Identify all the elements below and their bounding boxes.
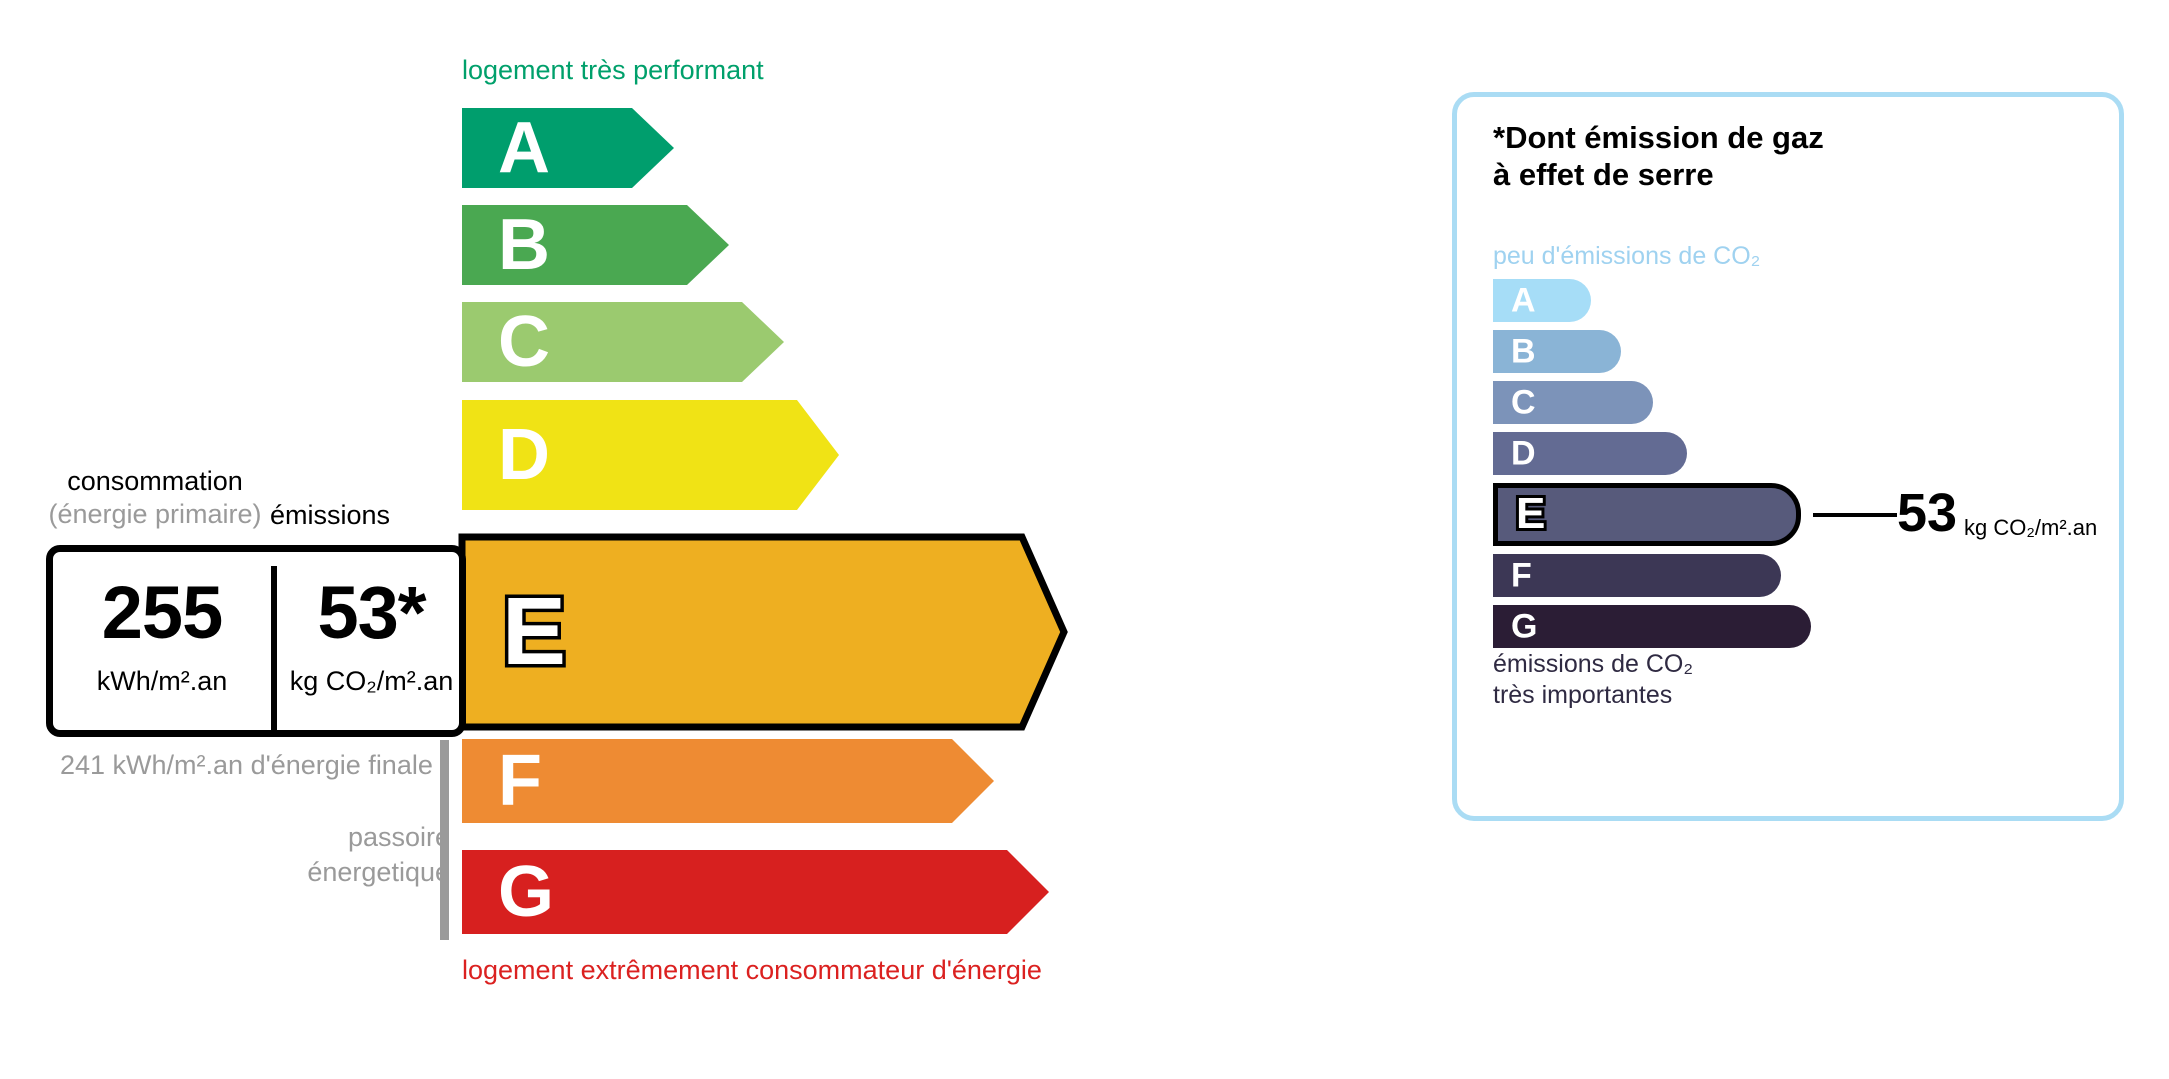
emissions-heading: émissions <box>270 500 390 531</box>
co2-bar-letter-e: E <box>1516 492 1545 536</box>
co2-panel: *Dont émission de gaz à effet de serre p… <box>1452 92 2124 821</box>
co2-callout-line <box>1813 513 1897 517</box>
co2-bar-e: E <box>1493 483 1801 546</box>
consumption-unit: kWh/m².an <box>53 668 271 695</box>
dpe-diagram: logement très performant ABCDEFG 255 kWh… <box>0 0 2169 1079</box>
energy-bottom-caption: logement extrêmement consommateur d'éner… <box>462 955 1042 986</box>
co2-bar-letter-b: B <box>1511 334 1536 368</box>
consumption-cell: 255 kWh/m².an <box>53 552 271 730</box>
passoire-label: passoire énergetique <box>260 820 450 889</box>
final-energy-note: 241 kWh/m².an d'énergie finale <box>60 748 433 783</box>
emissions-value: 53* <box>277 576 466 650</box>
consumption-label: consommation <box>67 466 243 496</box>
co2-bar-letter-c: C <box>1511 385 1536 419</box>
energy-band-letter-a: A <box>498 112 550 184</box>
co2-bar-letter-a: A <box>1511 283 1536 317</box>
consumption-sublabel: (énergie primaire) <box>48 499 261 529</box>
energy-value-box: 255 kWh/m².an 53* kg CO₂/m².an <box>46 545 466 737</box>
co2-bar-list: ABCDE53kg CO₂/m².anFG <box>1493 279 2113 639</box>
co2-bar-g: G <box>1493 605 1811 648</box>
energy-band-letter-c: C <box>498 306 550 378</box>
energy-performance-panel: logement très performant ABCDEFG 255 kWh… <box>0 0 1400 1079</box>
energy-band-letter-e: E <box>502 584 566 680</box>
emissions-cell: 53* kg CO₂/m².an <box>277 552 466 730</box>
co2-callout-unit: kg CO₂/m².an <box>1964 517 2097 539</box>
energy-band-letter-d: D <box>498 419 550 491</box>
co2-bar-a: A <box>1493 279 1591 322</box>
co2-bar-letter-d: D <box>1511 436 1536 470</box>
consumption-heading: consommation (énergie primaire) <box>46 465 264 531</box>
co2-bar-c: C <box>1493 381 1653 424</box>
energy-band-letter-g: G <box>498 856 554 928</box>
co2-bottom-caption: émissions de CO₂ très importantes <box>1493 649 1693 712</box>
consumption-value: 255 <box>53 576 271 650</box>
co2-bar-b: B <box>1493 330 1621 373</box>
emissions-unit: kg CO₂/m².an <box>277 668 466 695</box>
energy-band-letter-f: F <box>498 745 542 817</box>
co2-bar-d: D <box>1493 432 1687 475</box>
co2-bar-letter-f: F <box>1511 558 1532 592</box>
co2-bar-letter-g: G <box>1511 609 1537 643</box>
energy-band-letter-b: B <box>498 209 550 281</box>
co2-callout-value: 53 <box>1897 486 1957 540</box>
co2-title: *Dont émission de gaz à effet de serre <box>1493 119 1824 193</box>
energy-band-list: ABCDEFG <box>0 0 1400 1079</box>
co2-top-caption: peu d'émissions de CO₂ <box>1493 242 1760 271</box>
co2-bar-f: F <box>1493 554 1781 597</box>
